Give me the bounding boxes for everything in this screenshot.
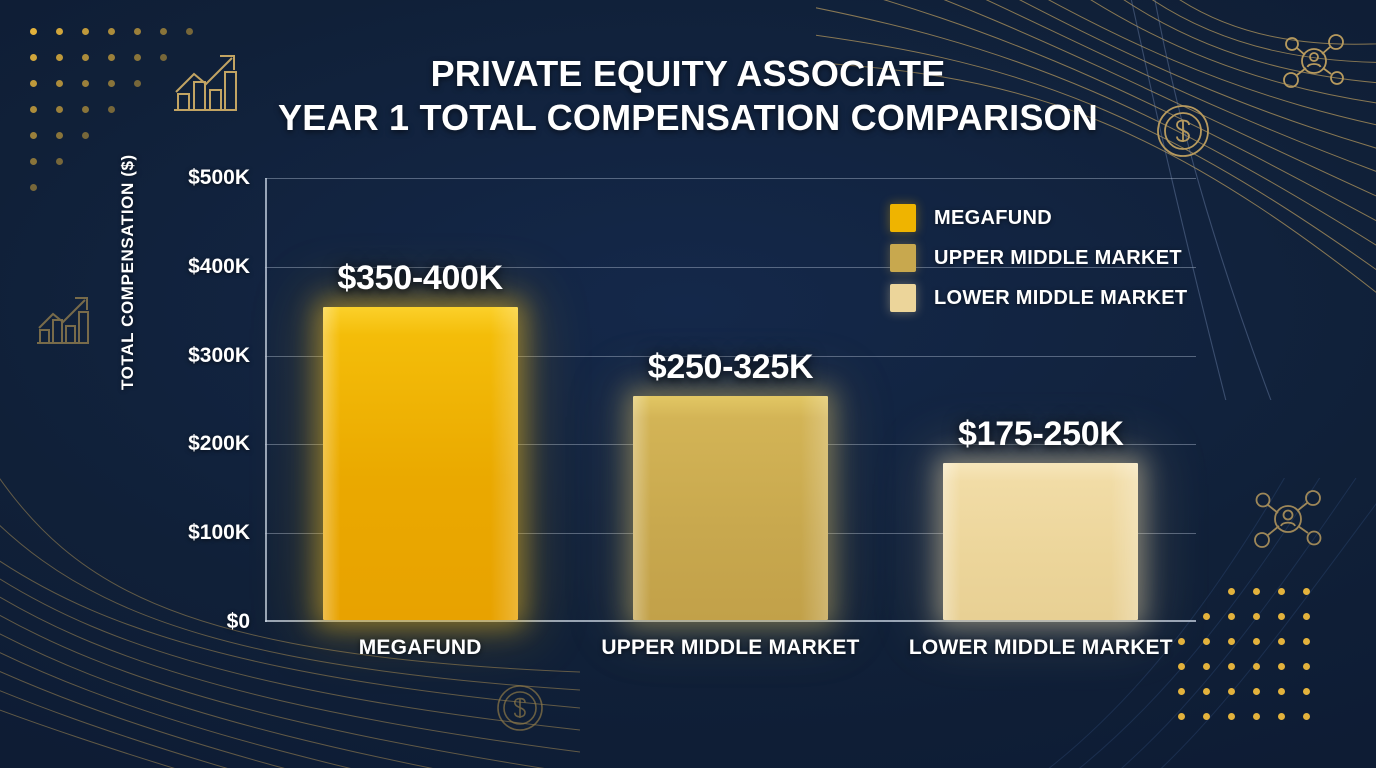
legend-item[interactable]: UPPER MIDDLE MARKET [890, 238, 1187, 278]
bar-value-label: $250-325K [648, 348, 814, 387]
y-axis-tick-label: $500K [0, 166, 250, 190]
title-line-2: YEAR 1 TOTAL COMPENSATION COMPARISON [0, 96, 1376, 140]
legend-label: MEGAFUND [934, 207, 1052, 230]
y-axis-tick-label: $0 [0, 610, 250, 634]
legend-item[interactable]: LOWER MIDDLE MARKET [890, 278, 1187, 318]
legend-label: UPPER MIDDLE MARKET [934, 247, 1182, 270]
legend-swatch [890, 284, 916, 312]
x-axis-category-label: MEGAFUND [359, 636, 482, 660]
legend-item[interactable]: MEGAFUND [890, 198, 1187, 238]
y-axis-tick-label: $400K [0, 255, 250, 279]
page-title: PRIVATE EQUITY ASSOCIATE YEAR 1 TOTAL CO… [0, 52, 1376, 140]
bar-value-label: $175-250K [958, 415, 1124, 454]
infographic-canvas: PRIVATE EQUITY ASSOCIATE YEAR 1 TOTAL CO… [0, 0, 1376, 768]
bar-lower-middle-market[interactable]: $175-250KLOWER MIDDLE MARKET [943, 463, 1138, 620]
y-axis-tick-label: $200K [0, 432, 250, 456]
bar-upper-middle-market[interactable]: $250-325KUPPER MIDDLE MARKET [633, 396, 828, 620]
legend-swatch [890, 244, 916, 272]
legend-label: LOWER MIDDLE MARKET [934, 287, 1187, 310]
chart-legend: MEGAFUNDUPPER MIDDLE MARKETLOWER MIDDLE … [890, 198, 1187, 318]
bar-value-label: $350-400K [337, 259, 503, 298]
gridline [265, 178, 1196, 179]
y-axis-tick-label: $100K [0, 521, 250, 545]
y-axis-tick-label: $300K [0, 344, 250, 368]
bar-megafund[interactable]: $350-400KMEGAFUND [323, 307, 518, 620]
legend-swatch [890, 204, 916, 232]
y-axis-line [265, 178, 267, 622]
x-axis-category-label: LOWER MIDDLE MARKET [909, 636, 1173, 660]
x-axis-category-label: UPPER MIDDLE MARKET [601, 636, 859, 660]
title-line-1: PRIVATE EQUITY ASSOCIATE [0, 52, 1376, 96]
